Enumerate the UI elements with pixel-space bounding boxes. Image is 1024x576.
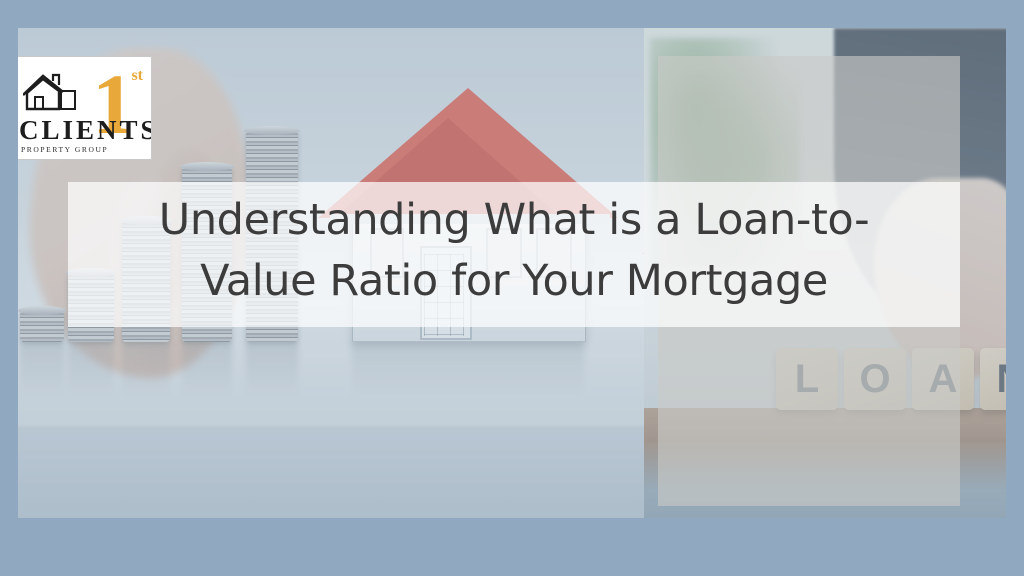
frame-bottom (0, 518, 1024, 576)
house-icon (23, 71, 93, 111)
logo-tagline: PROPERTY GROUP (21, 145, 108, 154)
page-title-line-2: Value Ratio for Your Mortgage (68, 251, 960, 312)
page-title-line-1: Understanding What is a Loan-to- (68, 190, 960, 251)
logo-ordinal-suffix: st (131, 67, 143, 85)
blog-header-banner: L O A N Understanding What is a Loan-to-… (0, 0, 1024, 576)
brand-logo[interactable]: 1 st CLIENTS PROPERTY GROUP (10, 56, 152, 160)
frame-right (1006, 0, 1024, 576)
frame-left (0, 0, 18, 576)
page-title: Understanding What is a Loan-to- Value R… (68, 190, 960, 312)
frame-top (0, 0, 1024, 28)
logo-brand-name: CLIENTS (19, 115, 152, 146)
